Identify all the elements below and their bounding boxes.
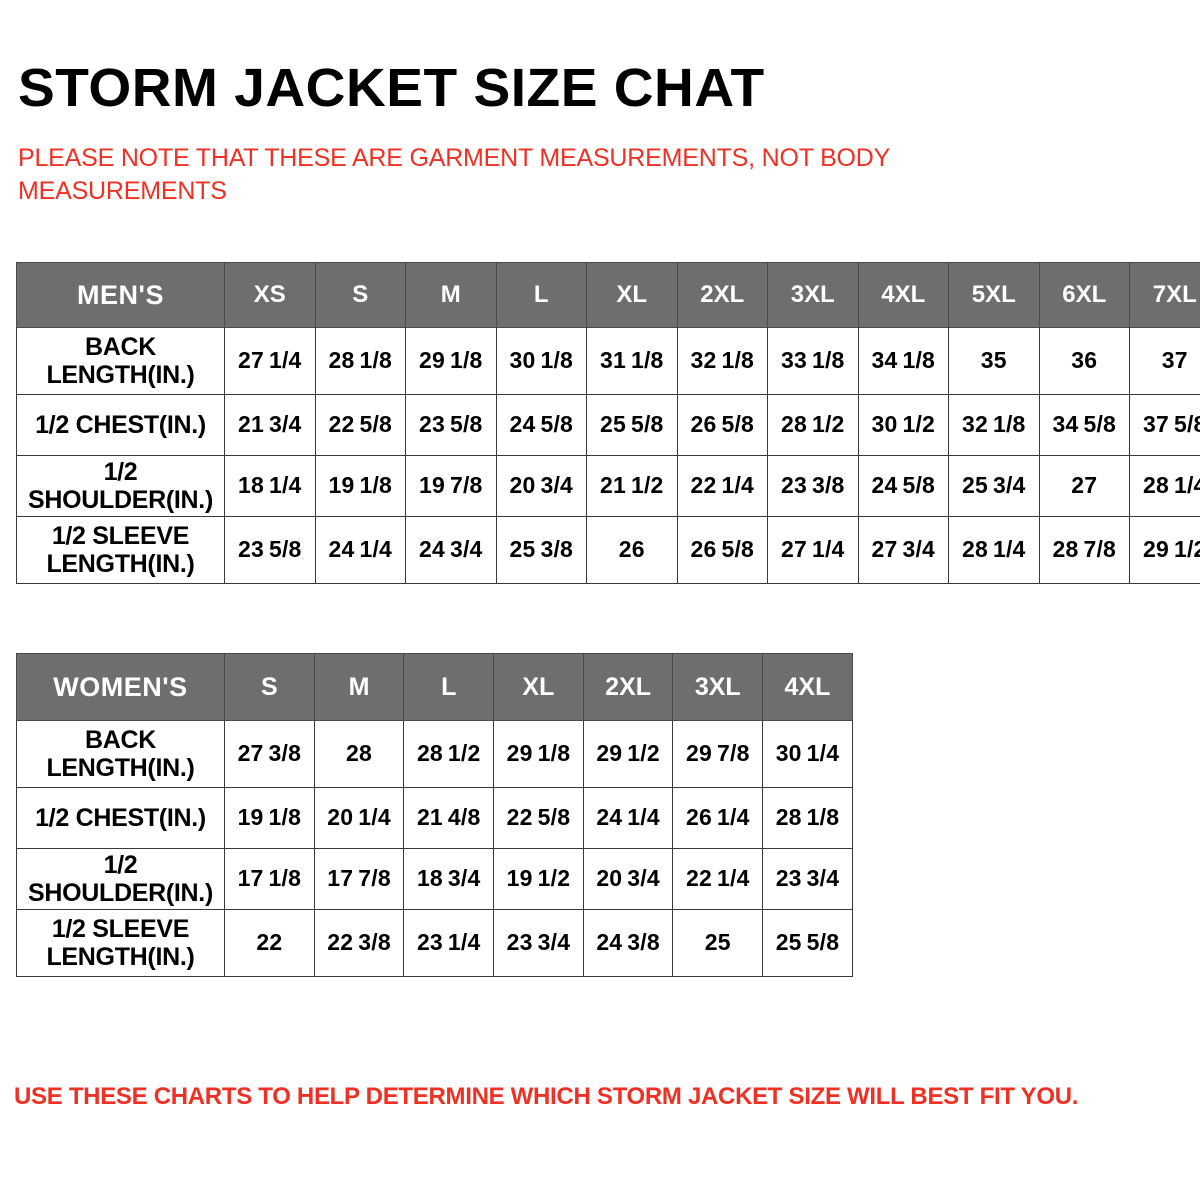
- value-fraction: 5/8: [631, 411, 664, 437]
- value-fraction: 1/4: [269, 472, 302, 498]
- mens-measure-cell: 245/8: [858, 456, 949, 517]
- value-whole: 34: [871, 347, 897, 373]
- value-whole: 24: [419, 536, 445, 562]
- table-row: 1/2 SHOULDER(IN.)171/8177/8183/4191/2203…: [17, 849, 853, 910]
- mens-measure-cell: 331/8: [768, 328, 859, 395]
- value-whole: 32: [690, 347, 716, 373]
- value-fraction: 5/8: [1174, 411, 1200, 437]
- mens-measure-cell: 26: [587, 517, 678, 584]
- mens-measure-cell: 233/8: [768, 456, 859, 517]
- value-whole: 18: [417, 865, 443, 891]
- womens-measure-cell: 243/8: [583, 910, 673, 977]
- value-whole: 20: [596, 865, 622, 891]
- value-whole: 20: [509, 472, 535, 498]
- value-whole: 20: [327, 804, 353, 830]
- value-whole: 37: [1143, 411, 1169, 437]
- value-fraction: 5/8: [902, 472, 935, 498]
- mens-row-label: BACK LENGTH(IN.): [17, 328, 225, 395]
- value-whole: 28: [417, 740, 443, 766]
- womens-measure-cell: 225/8: [494, 788, 584, 849]
- womens-size-header-l: L: [404, 654, 494, 721]
- womens-measure-cell: 171/8: [225, 849, 315, 910]
- value-fraction: 3/4: [269, 411, 302, 437]
- value-fraction: 3/8: [540, 536, 573, 562]
- mens-measure-cell: 27: [1039, 456, 1130, 517]
- mens-size-header-7xl: 7XL: [1130, 263, 1200, 328]
- value-fraction: 1/8: [359, 347, 392, 373]
- womens-size-header-3xl: 3XL: [673, 654, 763, 721]
- womens-measure-cell: 297/8: [673, 721, 763, 788]
- value-whole: 30: [871, 411, 897, 437]
- mens-measure-cell: 181/4: [225, 456, 316, 517]
- value-fraction: 3/4: [538, 929, 571, 955]
- mens-table-head: MEN'SXSSMLXL2XL3XL4XL5XL6XL7XL: [17, 263, 1200, 328]
- value-fraction: 5/8: [269, 536, 302, 562]
- value-whole: 23: [238, 536, 264, 562]
- mens-measure-cell: 345/8: [1039, 395, 1130, 456]
- womens-measure-cell: 281/2: [404, 721, 494, 788]
- table-row: BACK LENGTH(IN.)273/828281/2291/8291/229…: [17, 721, 853, 788]
- mens-measure-cell: 35: [949, 328, 1040, 395]
- value-fraction: 5/8: [807, 929, 840, 955]
- mens-measure-cell: 245/8: [496, 395, 587, 456]
- womens-measure-cell: 183/4: [404, 849, 494, 910]
- value-whole: 26: [690, 411, 716, 437]
- mens-measure-cell: 341/8: [858, 328, 949, 395]
- value-whole: 25: [962, 472, 988, 498]
- mens-size-header-xs: XS: [225, 263, 316, 328]
- mens-measure-cell: 281/8: [315, 328, 406, 395]
- size-chart-page: STORM JACKET SIZE CHAT PLEASE NOTE THAT …: [0, 0, 1200, 1200]
- womens-measure-cell: 22: [225, 910, 315, 977]
- value-whole: 28: [328, 347, 354, 373]
- value-whole: 22: [507, 804, 533, 830]
- womens-measure-cell: 233/4: [494, 910, 584, 977]
- mens-size-header-m: M: [406, 263, 497, 328]
- value-whole: 31: [600, 347, 626, 373]
- value-whole: 29: [419, 347, 445, 373]
- womens-row-label: 1/2 SLEEVE LENGTH(IN.): [17, 910, 225, 977]
- value-whole: 19: [328, 472, 354, 498]
- womens-size-header-2xl: 2XL: [583, 654, 673, 721]
- value-fraction: 1/8: [359, 472, 392, 498]
- mens-measure-cell: 281/4: [949, 517, 1040, 584]
- value-fraction: 1/8: [812, 347, 845, 373]
- mens-measure-cell: 375/8: [1130, 395, 1200, 456]
- value-fraction: 3/4: [450, 536, 483, 562]
- womens-measure-cell: 281/8: [763, 788, 853, 849]
- mens-measure-cell: 273/4: [858, 517, 949, 584]
- value-fraction: 5/8: [538, 804, 571, 830]
- value-whole: 22: [327, 929, 353, 955]
- value-whole: 22: [686, 865, 712, 891]
- mens-measure-cell: 281/2: [768, 395, 859, 456]
- mens-measure-cell: 321/8: [949, 395, 1040, 456]
- womens-measure-cell: 177/8: [314, 849, 404, 910]
- value-whole: 18: [238, 472, 264, 498]
- mens-measure-cell: 287/8: [1039, 517, 1130, 584]
- value-fraction: 1/4: [1174, 472, 1200, 498]
- mens-measure-cell: 321/8: [677, 328, 768, 395]
- table-row: 1/2 CHEST(IN.)213/4225/8235/8245/8255/82…: [17, 395, 1200, 456]
- mens-measure-cell: 301/8: [496, 328, 587, 395]
- value-whole: 23: [507, 929, 533, 955]
- womens-corner-header: WOMEN'S: [17, 654, 225, 721]
- womens-row-label: 1/2 CHEST(IN.): [17, 788, 225, 849]
- garment-measurement-note: PLEASE NOTE THAT THESE ARE GARMENT MEASU…: [18, 142, 978, 208]
- value-whole: 23: [781, 472, 807, 498]
- value-whole: 23: [417, 929, 443, 955]
- womens-measure-cell: 191/2: [494, 849, 584, 910]
- value-fraction: 1/8: [631, 347, 664, 373]
- womens-measure-cell: 203/4: [583, 849, 673, 910]
- value-fraction: 1/4: [269, 347, 302, 373]
- value-fraction: 1/2: [902, 411, 935, 437]
- value-whole: 29: [1143, 536, 1169, 562]
- value-fraction: 1/2: [812, 411, 845, 437]
- mens-size-header-s: S: [315, 263, 406, 328]
- womens-measure-cell: 28: [314, 721, 404, 788]
- womens-size-header-4xl: 4XL: [763, 654, 853, 721]
- womens-measure-cell: 214/8: [404, 788, 494, 849]
- value-fraction: 1/4: [448, 929, 481, 955]
- value-whole: 28: [1143, 472, 1169, 498]
- mens-measure-cell: 203/4: [496, 456, 587, 517]
- value-whole: 24: [871, 472, 897, 498]
- value-whole: 17: [327, 865, 353, 891]
- mens-measure-cell: 271/4: [225, 328, 316, 395]
- value-whole: 23: [776, 865, 802, 891]
- value-fraction: 3/4: [902, 536, 935, 562]
- mens-size-header-l: L: [496, 263, 587, 328]
- mens-size-header-6xl: 6XL: [1039, 263, 1130, 328]
- mens-measure-cell: 281/4: [1130, 456, 1200, 517]
- value-fraction: 1/8: [721, 347, 754, 373]
- womens-measure-cell: 201/4: [314, 788, 404, 849]
- value-fraction: 1/4: [627, 804, 660, 830]
- mens-header-row: MEN'SXSSMLXL2XL3XL4XL5XL6XL7XL: [17, 263, 1200, 328]
- mens-measure-cell: 255/8: [587, 395, 678, 456]
- value-whole: 27: [238, 740, 264, 766]
- mens-table-body: BACK LENGTH(IN.)271/4281/8291/8301/8311/…: [17, 328, 1200, 584]
- mens-size-header-2xl: 2XL: [677, 263, 768, 328]
- value-fraction: 1/8: [450, 347, 483, 373]
- value-whole: 30: [776, 740, 802, 766]
- mens-measure-cell: 291/8: [406, 328, 497, 395]
- value-fraction: 1/8: [269, 804, 302, 830]
- value-fraction: 1/4: [807, 740, 840, 766]
- value-whole: 26: [686, 804, 712, 830]
- mens-measure-cell: 221/4: [677, 456, 768, 517]
- value-whole: 26: [690, 536, 716, 562]
- value-fraction: 7/8: [450, 472, 483, 498]
- mens-measure-cell: 235/8: [225, 517, 316, 584]
- mens-size-header-5xl: 5XL: [949, 263, 1040, 328]
- value-fraction: 7/8: [1083, 536, 1116, 562]
- value-fraction: 5/8: [721, 411, 754, 437]
- value-whole: 29: [507, 740, 533, 766]
- value-fraction: 1/2: [448, 740, 481, 766]
- value-fraction: 1/8: [538, 740, 571, 766]
- value-whole: 34: [1052, 411, 1078, 437]
- value-whole: 21: [238, 411, 264, 437]
- value-fraction: 1/8: [807, 804, 840, 830]
- value-whole: 28: [776, 804, 802, 830]
- value-fraction: 3/8: [269, 740, 302, 766]
- womens-measure-cell: 301/4: [763, 721, 853, 788]
- womens-table-head: WOMEN'SSMLXL2XL3XL4XL: [17, 654, 853, 721]
- womens-table-body: BACK LENGTH(IN.)273/828281/2291/8291/229…: [17, 721, 853, 977]
- value-whole: 22: [690, 472, 716, 498]
- value-fraction: 3/8: [358, 929, 391, 955]
- value-whole: 24: [328, 536, 354, 562]
- value-whole: 33: [781, 347, 807, 373]
- value-fraction: 5/8: [359, 411, 392, 437]
- womens-header-row: WOMEN'SSMLXL2XL3XL4XL: [17, 654, 853, 721]
- value-whole: 24: [596, 804, 622, 830]
- value-fraction: 5/8: [1083, 411, 1116, 437]
- womens-measure-cell: 233/4: [763, 849, 853, 910]
- value-whole: 32: [962, 411, 988, 437]
- mens-measure-cell: 265/8: [677, 395, 768, 456]
- value-fraction: 3/4: [540, 472, 573, 498]
- value-fraction: 1/2: [538, 865, 571, 891]
- value-fraction: 1/8: [902, 347, 935, 373]
- value-whole: 19: [238, 804, 264, 830]
- womens-row-label: 1/2 SHOULDER(IN.): [17, 849, 225, 910]
- mens-row-label: 1/2 CHEST(IN.): [17, 395, 225, 456]
- mens-measure-cell: 241/4: [315, 517, 406, 584]
- value-fraction: 1/4: [721, 472, 754, 498]
- value-fraction: 3/8: [812, 472, 845, 498]
- mens-measure-cell: 37: [1130, 328, 1200, 395]
- value-fraction: 1/4: [717, 865, 750, 891]
- mens-measure-cell: 253/4: [949, 456, 1040, 517]
- value-whole: 28: [1052, 536, 1078, 562]
- value-fraction: 1/2: [631, 472, 664, 498]
- value-fraction: 1/4: [812, 536, 845, 562]
- value-whole: 25: [776, 929, 802, 955]
- womens-measure-cell: 241/4: [583, 788, 673, 849]
- mens-measure-cell: 213/4: [225, 395, 316, 456]
- womens-measure-cell: 223/8: [314, 910, 404, 977]
- womens-measure-cell: 291/2: [583, 721, 673, 788]
- value-whole: 23: [419, 411, 445, 437]
- mens-size-table: MEN'SXSSMLXL2XL3XL4XL5XL6XL7XL BACK LENG…: [16, 262, 1200, 584]
- value-fraction: 1/4: [359, 536, 392, 562]
- value-fraction: 3/4: [627, 865, 660, 891]
- mens-corner-header: MEN'S: [17, 263, 225, 328]
- value-fraction: 5/8: [540, 411, 573, 437]
- value-whole: 24: [509, 411, 535, 437]
- value-whole: 21: [417, 804, 443, 830]
- value-fraction: 1/2: [627, 740, 660, 766]
- value-whole: 19: [419, 472, 445, 498]
- mens-measure-cell: 301/2: [858, 395, 949, 456]
- mens-measure-cell: 36: [1039, 328, 1130, 395]
- womens-size-header-m: M: [314, 654, 404, 721]
- value-fraction: 1/8: [540, 347, 573, 373]
- value-fraction: 3/8: [627, 929, 660, 955]
- mens-measure-cell: 291/2: [1130, 517, 1200, 584]
- value-fraction: 5/8: [721, 536, 754, 562]
- womens-measure-cell: 291/8: [494, 721, 584, 788]
- table-row: BACK LENGTH(IN.)271/4281/8291/8301/8311/…: [17, 328, 1200, 395]
- mens-measure-cell: 225/8: [315, 395, 406, 456]
- womens-measure-cell: 191/8: [225, 788, 315, 849]
- value-fraction: 7/8: [358, 865, 391, 891]
- mens-size-header-3xl: 3XL: [768, 263, 859, 328]
- mens-size-header-4xl: 4XL: [858, 263, 949, 328]
- value-whole: 27: [781, 536, 807, 562]
- value-whole: 19: [507, 865, 533, 891]
- womens-measure-cell: 261/4: [673, 788, 763, 849]
- womens-row-label: BACK LENGTH(IN.): [17, 721, 225, 788]
- value-whole: 30: [509, 347, 535, 373]
- womens-measure-cell: 25: [673, 910, 763, 977]
- mens-measure-cell: 191/8: [315, 456, 406, 517]
- womens-size-header-s: S: [225, 654, 315, 721]
- value-whole: 21: [600, 472, 626, 498]
- mens-measure-cell: 265/8: [677, 517, 768, 584]
- page-title: STORM JACKET SIZE CHAT: [18, 60, 765, 117]
- mens-measure-cell: 311/8: [587, 328, 678, 395]
- value-whole: 29: [686, 740, 712, 766]
- value-fraction: 3/4: [807, 865, 840, 891]
- table-row: 1/2 CHEST(IN.)191/8201/4214/8225/8241/42…: [17, 788, 853, 849]
- mens-measure-cell: 211/2: [587, 456, 678, 517]
- mens-row-label: 1/2 SLEEVE LENGTH(IN.): [17, 517, 225, 584]
- value-fraction: 1/8: [993, 411, 1026, 437]
- value-fraction: 5/8: [450, 411, 483, 437]
- womens-measure-cell: 273/8: [225, 721, 315, 788]
- value-fraction: 3/4: [993, 472, 1026, 498]
- value-whole: 24: [596, 929, 622, 955]
- value-whole: 25: [509, 536, 535, 562]
- mens-size-header-xl: XL: [587, 263, 678, 328]
- table-row: 1/2 SLEEVE LENGTH(IN.)235/8241/4243/4253…: [17, 517, 1200, 584]
- size-guidance-note: USE THESE CHARTS TO HELP DETERMINE WHICH…: [14, 1082, 1134, 1112]
- value-whole: 29: [596, 740, 622, 766]
- value-whole: 27: [871, 536, 897, 562]
- womens-measure-cell: 221/4: [673, 849, 763, 910]
- value-fraction: 1/4: [358, 804, 391, 830]
- value-whole: 25: [600, 411, 626, 437]
- value-whole: 28: [781, 411, 807, 437]
- mens-measure-cell: 253/8: [496, 517, 587, 584]
- mens-measure-cell: 243/4: [406, 517, 497, 584]
- value-fraction: 1/4: [717, 804, 750, 830]
- value-whole: 17: [238, 865, 264, 891]
- womens-size-table: WOMEN'SSMLXL2XL3XL4XL BACK LENGTH(IN.)27…: [16, 653, 853, 977]
- table-row: 1/2 SHOULDER(IN.)181/4191/8197/8203/4211…: [17, 456, 1200, 517]
- mens-row-label: 1/2 SHOULDER(IN.): [17, 456, 225, 517]
- value-fraction: 1/2: [1174, 536, 1200, 562]
- womens-measure-cell: 255/8: [763, 910, 853, 977]
- mens-measure-cell: 271/4: [768, 517, 859, 584]
- value-whole: 27: [238, 347, 264, 373]
- table-row: 1/2 SLEEVE LENGTH(IN.)22223/8231/4233/42…: [17, 910, 853, 977]
- value-fraction: 7/8: [717, 740, 750, 766]
- value-whole: 22: [328, 411, 354, 437]
- womens-measure-cell: 231/4: [404, 910, 494, 977]
- womens-size-header-xl: XL: [494, 654, 584, 721]
- value-fraction: 1/4: [993, 536, 1026, 562]
- value-fraction: 1/8: [269, 865, 302, 891]
- mens-measure-cell: 235/8: [406, 395, 497, 456]
- value-fraction: 3/4: [448, 865, 481, 891]
- mens-measure-cell: 197/8: [406, 456, 497, 517]
- value-whole: 28: [962, 536, 988, 562]
- value-fraction: 4/8: [448, 804, 481, 830]
